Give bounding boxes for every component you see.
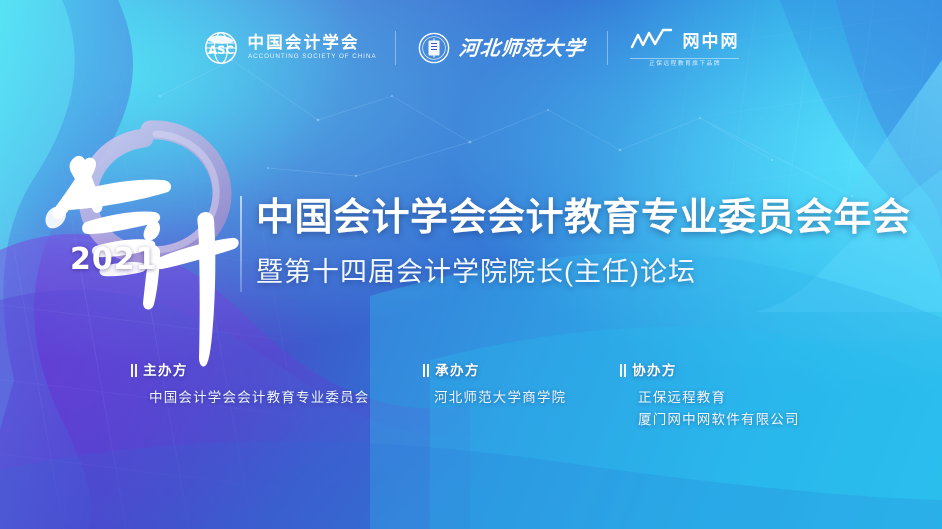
calligraphy-year: 2021 <box>70 245 158 275</box>
organizer-role-heading: 协办方 <box>620 364 800 378</box>
organizer-block-host: 主办方 中国会计学会会计教育专业委员会 <box>131 364 370 404</box>
double-bar-icon <box>131 364 137 377</box>
logo-wzw-sublabel: 正保远程教育旗下品牌 <box>630 58 739 67</box>
page-subtitle: 暨第十四届会计学院院长(主任)论坛 <box>256 256 696 288</box>
globe-asc-icon: ASC <box>203 30 239 66</box>
double-bar-icon <box>620 364 626 377</box>
logo-wzw-label: 网中网 <box>682 33 739 50</box>
organizer-block-coorganizer: 协办方 正保远程教育 厦门网中网软件有限公司 <box>620 364 800 427</box>
organizer-name: 厦门网中网软件有限公司 <box>638 413 800 427</box>
organizer-name: 河北师范大学商学院 <box>434 391 566 405</box>
organizer-section: 主办方 中国会计学会会计教育专业委员会 承办方 河北师范大学商学院 协办方 正保… <box>0 364 942 454</box>
logo-hebei-normal-university: 河北师范大学 <box>396 32 607 64</box>
logo-wangzhongwang: 网中网 正保远程教育旗下品牌 <box>608 28 761 67</box>
organizer-block-undertaker: 承办方 河北师范大学商学院 <box>423 364 566 404</box>
organizer-role-label: 承办方 <box>435 364 480 378</box>
svg-text:ASC: ASC <box>208 43 234 57</box>
logo-asc-en-label: ACCOUNTING SOCIETY OF CHINA <box>248 54 376 60</box>
organizer-role-label: 协办方 <box>632 364 677 378</box>
page-title: 中国会计学会会计教育专业委员会年会 <box>256 196 911 241</box>
organizer-role-label: 主办方 <box>143 364 188 378</box>
organizer-name: 正保远程教育 <box>638 391 800 405</box>
calligraphy-logo: 2021 <box>38 118 253 368</box>
logo-accounting-society-of-china: ASC 中国会计学会 ACCOUNTING SOCIETY OF CHINA <box>181 30 396 66</box>
title-accent-divider <box>240 196 242 292</box>
university-seal-icon <box>418 32 450 64</box>
organizer-role-heading: 主办方 <box>131 364 370 378</box>
logo-asc-cn-label: 中国会计学会 <box>248 35 374 52</box>
double-bar-icon <box>423 364 429 377</box>
organizer-role-heading: 承办方 <box>423 364 566 378</box>
logo-hbnu-label: 河北师范大学 <box>459 38 587 58</box>
conference-poster: ASC 中国会计学会 ACCOUNTING SOCIETY OF CHINA 河… <box>0 0 942 529</box>
sponsor-logo-bar: ASC 中国会计学会 ACCOUNTING SOCIETY OF CHINA 河… <box>0 28 942 67</box>
organizer-name: 中国会计学会会计教育专业委员会 <box>149 391 370 405</box>
wzw-monogram-icon <box>630 28 674 55</box>
